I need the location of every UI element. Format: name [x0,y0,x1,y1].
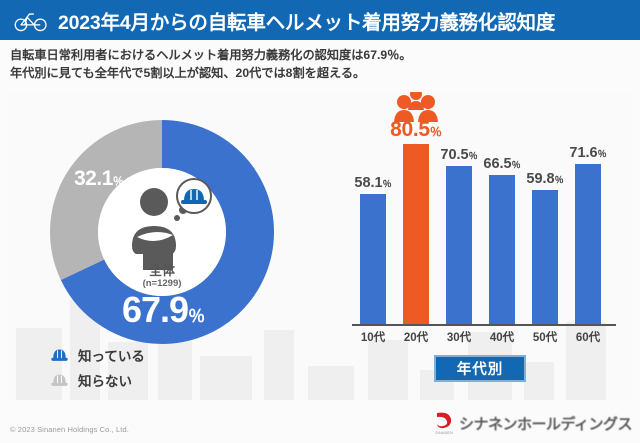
bar-value-number: 70.5 [440,147,468,163]
bar-x-axis-labels: 10代20代30代40代50代60代 [348,329,620,347]
bar-value-percent-symbol: ％ [555,175,564,185]
legend-item-unknown: 知らない [50,367,145,392]
brand-wordmark: シナネンホールディングス [459,413,632,434]
subtitle-line-1: 自転車日常利用者におけるヘルメット着用努力義務化の認知度は67.9％。 [10,46,630,64]
age-bar-chart: 58.1％80.5％70.5％66.5％59.8％71.6％ 10代20代30代… [348,100,620,392]
awareness-donut-chart: 全体 (n=1299) 67.9％ 32.1％ [36,106,288,358]
bar-value-percent-symbol: ％ [469,151,478,161]
subtitle-block: 自転車日常利用者におけるヘルメット着用努力義務化の認知度は67.9％。 年代別に… [10,46,630,82]
legend-label-unknown: 知らない [78,370,132,390]
sinanen-logo-icon: SINANEN [433,410,455,436]
helmet-icon-gray [50,373,69,387]
donut-svg [36,106,288,358]
bar-value-label-50代: 59.8％ [523,171,567,190]
bar-rect-60代[interactable] [575,164,601,324]
bar-value-number: 71.6 [569,145,597,161]
bars-plot-area: 58.1％80.5％70.5％66.5％59.8％71.6％ [348,100,620,324]
bar-value-label-60代: 71.6％ [566,145,610,164]
bar-column-50代[interactable]: 59.8％ [532,190,558,324]
bar-value-percent-symbol: ％ [383,179,392,189]
legend-label-known: 知っている [78,345,145,365]
svg-text:SINANEN: SINANEN [435,430,453,435]
page-header: 2023年4月からの自転車ヘルメット着用努力義務化認知度 [0,0,640,40]
bar-value-number: 66.5 [483,156,511,172]
bar-value-percent-symbol: ％ [598,149,607,159]
bar-column-60代[interactable]: 71.6％ [575,164,601,324]
axis-title-label: 年代別 [457,358,504,379]
bar-rect-50代[interactable] [532,190,558,324]
subtitle-line-2: 年代別に見ても全年代で5割以上が認知、20代では8割を超える。 [10,64,630,82]
bar-axis-line [352,324,616,326]
x-axis-label-20代: 20代 [394,329,438,345]
helmet-icon-blue [50,348,69,362]
charts-panel: 全体 (n=1299) 67.9％ 32.1％ 知っている 知らない [8,92,632,400]
bar-value-number: 59.8 [526,171,554,187]
axis-title-badge: 年代別 [434,355,526,382]
bar-value-label-40代: 66.5％ [480,156,524,175]
x-axis-label-60代: 60代 [566,329,610,345]
bar-column-10代[interactable]: 58.1％ [360,194,386,324]
bar-value-label-10代: 58.1％ [351,175,395,194]
people-group-icon [394,92,438,122]
bar-rect-10代[interactable] [360,194,386,324]
copyright-text: © 2023 Sinanen Holdings Co., Ltd. [10,425,129,434]
legend-item-known: 知っている [50,342,145,367]
bar-rect-40代[interactable] [489,175,515,324]
bar-rect-20代[interactable] [403,144,429,324]
bar-value-percent-symbol: ％ [512,160,521,170]
bar-value-label-30代: 70.5％ [437,147,481,166]
x-axis-label-40代: 40代 [480,329,524,345]
bar-column-40代[interactable]: 66.5％ [489,175,515,324]
donut-legend: 知っている 知らない [50,342,145,392]
bar-column-20代[interactable]: 80.5％ [403,144,429,324]
x-axis-label-10代: 10代 [351,329,395,345]
x-axis-label-30代: 30代 [437,329,481,345]
bicycle-icon [14,10,48,32]
page-title: 2023年4月からの自転車ヘルメット着用努力義務化認知度 [58,6,555,35]
brand-logo: SINANEN シナネンホールディングス [433,409,632,437]
x-axis-label-50代: 50代 [523,329,567,345]
bar-value-number: 58.1 [354,175,382,191]
bar-column-30代[interactable]: 70.5％ [446,166,472,324]
bar-value-label-20代: 80.5％ [387,119,445,144]
bar-rect-30代[interactable] [446,166,472,324]
bar-value-percent-symbol: ％ [430,125,442,139]
